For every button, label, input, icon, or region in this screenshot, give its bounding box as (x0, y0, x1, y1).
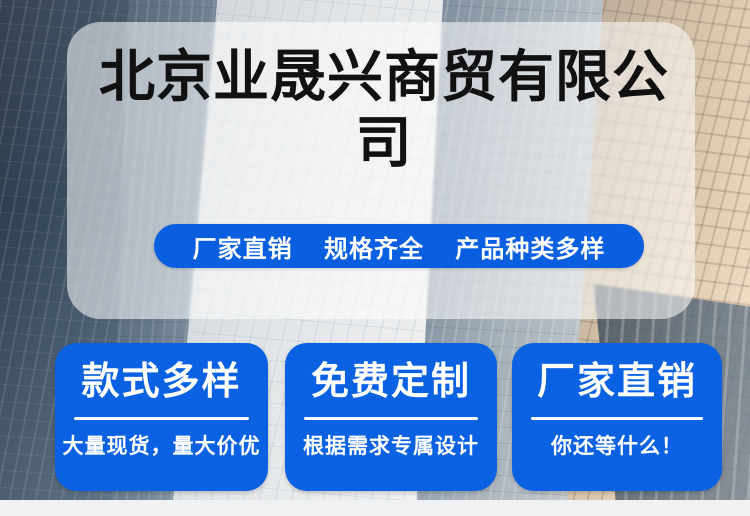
feature-card-list: 款式多样 大量现货，量大价优 免费定制 根据需求专属设计 厂家直销 你还等什么！ (0, 343, 750, 491)
feature-card-1-divider (74, 417, 249, 420)
slogan-item-3: 产品种类多样 (455, 236, 605, 263)
slogan-text: 厂家直销 规格齐全 产品种类多样 (193, 229, 606, 264)
footer-strip (0, 500, 750, 516)
slogan-pill: 厂家直销 规格齐全 产品种类多样 (154, 224, 644, 268)
feature-card-1-title: 款式多样 (81, 359, 241, 405)
feature-card-1-subtitle: 大量现货，量大价优 (63, 434, 261, 460)
feature-card-1: 款式多样 大量现货，量大价优 (55, 343, 268, 491)
feature-card-2-subtitle: 根据需求专属设计 (303, 434, 479, 460)
feature-card-3-title: 厂家直销 (537, 359, 697, 405)
feature-card-3-divider (531, 417, 703, 420)
feature-card-2: 免费定制 根据需求专属设计 (285, 343, 497, 491)
feature-card-3: 厂家直销 你还等什么！ (512, 343, 722, 491)
feature-card-3-subtitle: 你还等什么！ (551, 434, 683, 460)
feature-card-2-title: 免费定制 (311, 359, 471, 405)
slogan-item-1: 厂家直销 (193, 236, 293, 263)
promo-banner: 北京业晟兴商贸有限公司 厂家直销 规格齐全 产品种类多样 款式多样 大量现货，量… (0, 0, 750, 516)
slogan-item-2: 规格齐全 (324, 236, 424, 263)
company-title: 北京业晟兴商贸有限公司 (78, 44, 690, 176)
feature-card-2-divider (304, 417, 478, 420)
